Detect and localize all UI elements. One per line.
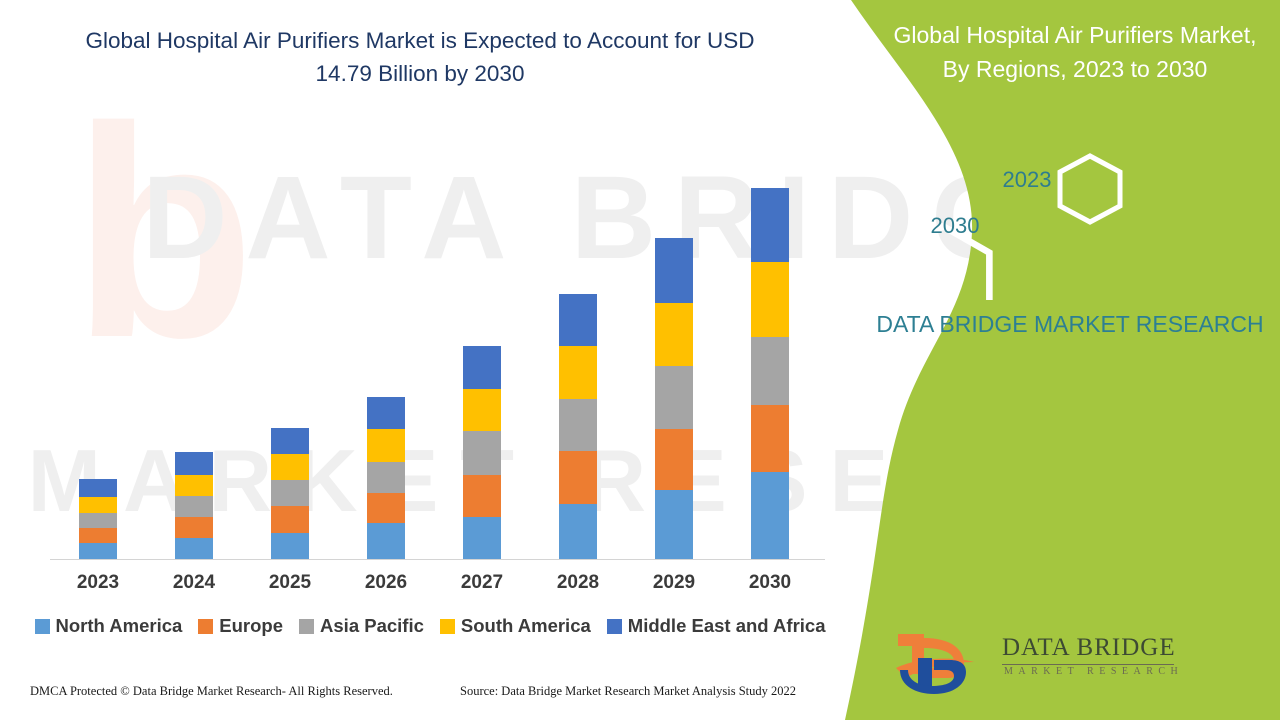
- hexagon-graphic: 2030 2023: [860, 140, 1280, 300]
- bar-segment: [271, 533, 309, 559]
- bar-segment: [463, 475, 501, 517]
- bar-segment: [79, 497, 117, 513]
- legend-swatch-icon: [440, 619, 455, 634]
- bar-segment: [79, 543, 117, 559]
- bar-segment: [271, 454, 309, 480]
- legend-item-middle-east-and-africa[interactable]: Middle East and Africa: [607, 615, 826, 637]
- bar-segment: [175, 496, 213, 517]
- source-note: Source: Data Bridge Market Research Mark…: [460, 684, 796, 699]
- legend-label: North America: [56, 615, 183, 637]
- panel-title: Global Hospital Air Purifiers Market, By…: [880, 18, 1270, 86]
- x-axis-label-2024: 2024: [154, 572, 234, 594]
- x-axis-label-2026: 2026: [346, 572, 426, 594]
- x-axis-label-2029: 2029: [634, 572, 714, 594]
- bar-segment: [271, 428, 309, 454]
- bar-segment: [175, 475, 213, 496]
- bar-segment: [367, 429, 405, 462]
- bar-segment: [271, 506, 309, 533]
- legend-swatch-icon: [198, 619, 213, 634]
- x-axis-label-2027: 2027: [442, 572, 522, 594]
- bar-segment: [655, 366, 693, 428]
- brand-name: DATA BRIDGE MARKET RESEARCH: [870, 308, 1270, 340]
- x-axis-label-2025: 2025: [250, 572, 330, 594]
- chart-plot-area: [50, 120, 825, 560]
- dmca-notice: DMCA Protected © Data Bridge Market Rese…: [30, 684, 393, 699]
- hexagon-2030-label: 2030: [910, 213, 1000, 239]
- legend-swatch-icon: [299, 619, 314, 634]
- bar-segment: [463, 517, 501, 559]
- bar-segment: [751, 188, 789, 262]
- bar-segment: [751, 405, 789, 472]
- x-axis-label-2023: 2023: [58, 572, 138, 594]
- bar-segment: [367, 462, 405, 493]
- bar-segment: [655, 238, 693, 303]
- logo-tagline: MARKET RESEARCH: [1004, 666, 1183, 677]
- legend-item-asia-pacific[interactable]: Asia Pacific: [299, 615, 424, 637]
- bar-segment: [367, 397, 405, 428]
- bar-segment: [559, 504, 597, 559]
- legend-swatch-icon: [607, 619, 622, 634]
- bar-segment: [463, 346, 501, 389]
- legend-label: South America: [461, 615, 591, 637]
- legend-label: Europe: [219, 615, 283, 637]
- bar-segment: [463, 389, 501, 431]
- bar-group-2027: [463, 346, 501, 559]
- x-axis-line: [50, 559, 825, 560]
- bar-segment: [79, 528, 117, 543]
- bar-segment: [559, 451, 597, 504]
- chart-panel: Global Hospital Air Purifiers Market is …: [0, 0, 860, 720]
- dbmr-logo-mark: [890, 628, 990, 698]
- chart-legend: North AmericaEuropeAsia PacificSouth Ame…: [0, 615, 860, 637]
- bar-segment: [655, 303, 693, 366]
- bar-group-2026: [367, 397, 405, 559]
- bar-segment: [367, 493, 405, 523]
- legend-label: Asia Pacific: [320, 615, 424, 637]
- logo-divider: [1002, 664, 1174, 665]
- bar-segment: [559, 399, 597, 451]
- bar-segment: [175, 452, 213, 475]
- bar-group-2030: [751, 188, 789, 559]
- chart-title: Global Hospital Air Purifiers Market is …: [60, 24, 780, 90]
- bar-group-2028: [559, 294, 597, 559]
- dbmr-logo: DATA BRIDGE MARKET RESEARCH: [890, 628, 1260, 698]
- bar-group-2024: [175, 452, 213, 559]
- legend-item-south-america[interactable]: South America: [440, 615, 591, 637]
- bar-segment: [751, 337, 789, 404]
- bar-group-2023: [79, 479, 117, 559]
- bar-segment: [79, 479, 117, 497]
- bar-segment: [175, 538, 213, 559]
- logo-wordmark: DATA BRIDGE: [1002, 634, 1176, 662]
- bar-segment: [655, 490, 693, 559]
- bar-segment: [751, 472, 789, 559]
- x-axis-label-2028: 2028: [538, 572, 618, 594]
- bar-segment: [367, 523, 405, 559]
- x-axis-labels: 20232024202520262027202820292030: [50, 572, 825, 602]
- legend-label: Middle East and Africa: [628, 615, 826, 637]
- bar-segment: [559, 346, 597, 399]
- market-report-infographic: b DATA BRIDGE MARKET RESEARCH Global Hos…: [0, 0, 1280, 720]
- hexagon-2023-label: 2023: [982, 167, 1072, 193]
- bar-segment: [559, 294, 597, 346]
- bar-segment: [751, 262, 789, 337]
- legend-item-europe[interactable]: Europe: [198, 615, 283, 637]
- legend-item-north-america[interactable]: North America: [35, 615, 183, 637]
- bar-group-2025: [271, 428, 309, 559]
- bar-segment: [463, 431, 501, 474]
- green-panel-content: Global Hospital Air Purifiers Market, By…: [860, 0, 1280, 720]
- bar-segment: [655, 429, 693, 490]
- bar-group-2029: [655, 238, 693, 559]
- legend-swatch-icon: [35, 619, 50, 634]
- bar-segment: [175, 517, 213, 538]
- x-axis-label-2030: 2030: [730, 572, 810, 594]
- bar-segment: [271, 480, 309, 506]
- bar-segment: [79, 513, 117, 528]
